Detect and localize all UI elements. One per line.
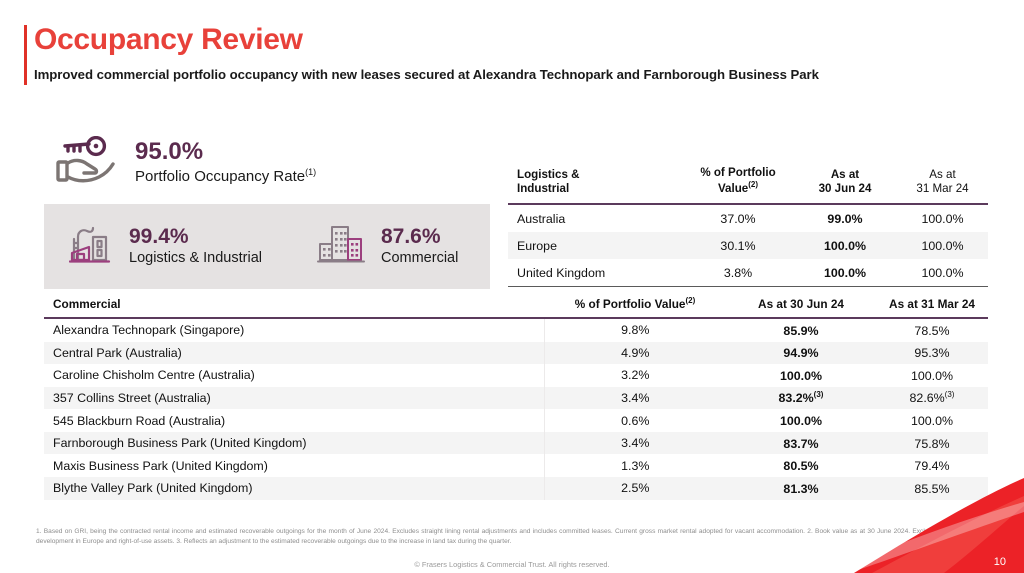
cell-as-at-31mar24: 75.8% [876,432,988,455]
column-header-portfolio-value-text: % of Portfolio Value [575,297,686,311]
commercial-table: Commercial % of Portfolio Value(2) As at… [44,296,988,500]
cell-as-at-31mar24: 79.4% [876,454,988,477]
key-in-hand-icon [55,136,117,189]
cell-as-at-30jun24-value: 81.3% [783,482,818,496]
cell-as-at-31mar24: 82.6%(3) [876,387,988,410]
portfolio-occupancy-value: 95.0% [135,139,316,164]
column-header-as-at-30jun24-line2: 30 Jun 24 [819,182,872,195]
segment-logistics-value: 99.4% [129,226,262,248]
cell-as-at-31mar24-value: 95.3% [914,346,949,360]
cell-as-at-30jun24: 100.0% [793,232,897,259]
cell-as-at-30jun24-value: 100.0% [780,369,822,383]
page-number: 10 [994,556,1006,568]
table-row: Blythe Valley Park (United Kingdom) 2.5%… [44,477,988,500]
cell-as-at-31mar24-value: 85.5% [914,482,949,496]
segment-commercial-value: 87.6% [381,226,458,248]
cell-as-at-30jun24-value: 83.7% [783,437,818,451]
table-row: Farnborough Business Park (United Kingdo… [44,432,988,455]
cell-as-at-31mar24-value: 100.0% [911,414,953,428]
cell-portfolio-value: 3.4% [544,387,726,410]
column-header-as-at-30jun24-line1: As at [831,168,859,181]
cell-as-at-30jun24-value: 100.0% [780,414,822,428]
cell-portfolio-value: 4.9% [544,342,726,365]
table-header-row: Commercial % of Portfolio Value(2) As at… [44,296,988,318]
portfolio-occupancy-footnote-marker: (1) [305,167,316,177]
portfolio-occupancy-label-text: Portfolio Occupancy Rate [135,168,305,185]
copyright-text: © Frasers Logistics & Commercial Trust. … [0,560,1024,569]
column-header-portfolio-value: % of Portfolio Value(2) [544,296,726,318]
column-header-portfolio-value-sup: (2) [748,180,758,189]
column-header-as-at-31mar24-line1: As at [929,168,955,181]
cell-as-at-31mar24: 100.0% [876,364,988,387]
cell-as-at-31mar24-value: 82.6% [910,392,945,406]
page-title: Occupancy Review [34,23,303,57]
table-row: 545 Blackburn Road (Australia) 0.6% 100.… [44,409,988,432]
table-row: Caroline Chisholm Centre (Australia) 3.2… [44,364,988,387]
cell-as-at-31mar24-value: 100.0% [911,369,953,383]
cell-as-at-30jun24: 94.9% [726,342,876,365]
cell-as-at-30jun24-value: 94.9% [783,346,818,360]
cell-property-name: Maxis Business Park (United Kingdom) [44,454,544,477]
cell-portfolio-value: 30.1% [683,232,793,259]
cell-property-name: Caroline Chisholm Centre (Australia) [44,364,544,387]
cell-property-name: Central Park (Australia) [44,342,544,365]
column-header-portfolio-value-sup: (2) [686,296,696,305]
cell-portfolio-value: 37.0% [683,205,793,232]
table-header-row: Logistics & Industrial % of Portfolio Va… [508,166,988,204]
table-row: Europe 30.1% 100.0% 100.0% [508,232,988,259]
cell-portfolio-value: 3.4% [544,432,726,455]
cell-as-at-31mar24: 85.5% [876,477,988,500]
segment-kpi-commercial: 87.6% Commercial [317,223,458,270]
segment-occupancy-panel: 99.4% Logistics & Industrial [44,204,490,289]
column-header-as-at-30jun24: As at 30 Jun 24 [793,166,897,204]
cell-as-at-30jun24-value: 83.2% [779,392,814,406]
table-row: Alexandra Technopark (Singapore) 9.8% 85… [44,319,988,342]
column-header-portfolio-value: % of Portfolio Value(2) [683,166,793,204]
cell-as-at-30jun24: 81.3% [726,477,876,500]
cell-property-name: Farnborough Business Park (United Kingdo… [44,432,544,455]
cell-as-at-31mar24-sup: (3) [945,390,955,399]
column-header-portfolio-value-line1: % of Portfolio [700,166,775,179]
portfolio-occupancy-label: Portfolio Occupancy Rate(1) [135,167,316,186]
column-header-commercial: Commercial [44,296,544,318]
cell-property-name: Alexandra Technopark (Singapore) [44,319,544,342]
table-row: Maxis Business Park (United Kingdom) 1.3… [44,454,988,477]
factory-icon [69,223,115,270]
cell-portfolio-value: 0.6% [544,409,726,432]
cell-region: Europe [508,232,683,259]
footnote-text: 1. Based on GRI, being the contracted re… [36,527,998,547]
cell-property-name: 357 Collins Street (Australia) [44,387,544,410]
cell-as-at-30jun24-sup: (3) [814,390,824,399]
cell-as-at-30jun24: 80.5% [726,454,876,477]
buildings-icon [317,223,367,270]
slide: Occupancy Review Improved commercial por… [0,0,1024,573]
segment-kpi-logistics-values: 99.4% Logistics & Industrial [129,226,262,267]
segment-logistics-label: Logistics & Industrial [129,250,262,267]
column-header-region: Logistics & Industrial [508,166,683,204]
cell-property-name: Blythe Valley Park (United Kingdom) [44,477,544,500]
cell-as-at-30jun24: 85.9% [726,319,876,342]
table-row: Central Park (Australia) 4.9% 94.9% 95.3… [44,342,988,365]
cell-as-at-31mar24: 95.3% [876,342,988,365]
column-header-region-line2: Industrial [517,182,569,195]
cell-as-at-30jun24: 100.0% [793,259,897,287]
cell-region: United Kingdom [508,259,683,287]
cell-as-at-31mar24-value: 78.5% [914,324,949,338]
column-header-region-line1: Logistics & [517,168,580,181]
cell-portfolio-value: 2.5% [544,477,726,500]
table-row: 357 Collins Street (Australia) 3.4% 83.2… [44,387,988,410]
cell-property-name: 545 Blackburn Road (Australia) [44,409,544,432]
table-bottom-rule [508,287,988,288]
cell-as-at-30jun24: 99.0% [793,205,897,232]
column-header-as-at-31mar24: As at 31 Mar 24 [876,296,988,318]
table-row: United Kingdom 3.8% 100.0% 100.0% [508,259,988,287]
portfolio-occupancy-kpi: 95.0% Portfolio Occupancy Rate(1) [55,136,316,189]
cell-as-at-31mar24-value: 79.4% [914,459,949,473]
column-header-as-at-31mar24: As at 31 Mar 24 [897,166,988,204]
cell-as-at-30jun24-value: 85.9% [783,324,818,338]
cell-portfolio-value: 1.3% [544,454,726,477]
cell-as-at-31mar24-value: 75.8% [914,437,949,451]
logistics-industrial-table: Logistics & Industrial % of Portfolio Va… [508,166,988,287]
cell-as-at-31mar24: 100.0% [876,409,988,432]
cell-as-at-30jun24: 83.7% [726,432,876,455]
cell-as-at-31mar24: 78.5% [876,319,988,342]
cell-as-at-31mar24: 100.0% [897,259,988,287]
title-accent-bar [24,25,27,85]
cell-as-at-30jun24: 100.0% [726,364,876,387]
cell-as-at-30jun24: 100.0% [726,409,876,432]
column-header-as-at-31mar24-line2: 31 Mar 24 [916,182,968,195]
cell-as-at-31mar24: 100.0% [897,205,988,232]
cell-portfolio-value: 3.2% [544,364,726,387]
segment-kpi-logistics: 99.4% Logistics & Industrial [69,223,262,270]
cell-portfolio-value: 3.8% [683,259,793,287]
table-row: Australia 37.0% 99.0% 100.0% [508,205,988,232]
cell-as-at-30jun24: 83.2%(3) [726,387,876,410]
page-subtitle: Improved commercial portfolio occupancy … [34,66,984,84]
column-header-portfolio-value-line2: Value [718,182,748,195]
cell-as-at-31mar24: 100.0% [897,232,988,259]
segment-commercial-label: Commercial [381,250,458,267]
segment-kpi-commercial-values: 87.6% Commercial [381,226,458,267]
column-header-as-at-30jun24: As at 30 Jun 24 [726,296,876,318]
cell-as-at-30jun24-value: 80.5% [783,459,818,473]
cell-portfolio-value: 9.8% [544,319,726,342]
portfolio-occupancy-values: 95.0% Portfolio Occupancy Rate(1) [135,139,316,185]
cell-region: Australia [508,205,683,232]
